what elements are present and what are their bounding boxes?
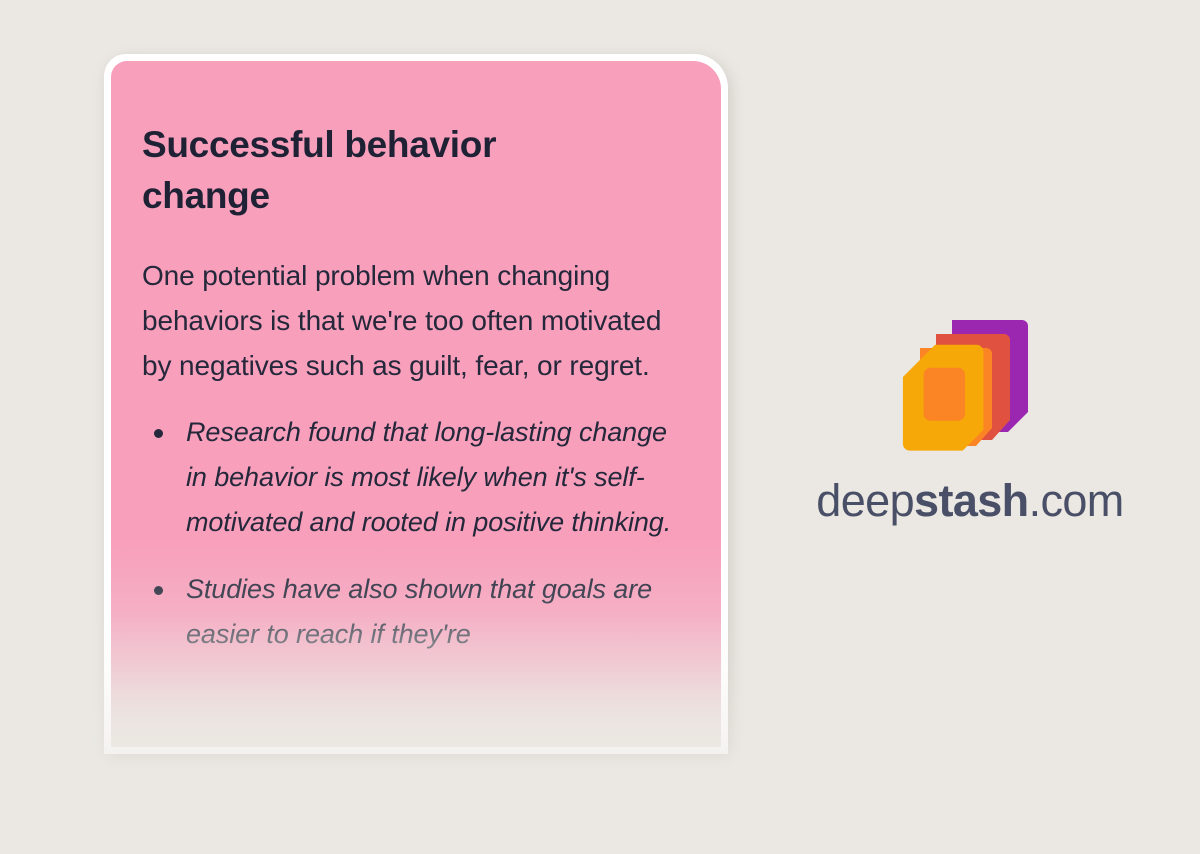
- wordmark-emphasis: stash: [914, 475, 1029, 526]
- card-bullet-list: Research found that long-lasting change …: [142, 388, 693, 657]
- deepstash-logo-icon: [896, 300, 1044, 452]
- card-surface[interactable]: Successful behavior change One potential…: [111, 61, 721, 747]
- list-item: Research found that long-lasting change …: [142, 410, 693, 545]
- stash-card[interactable]: Successful behavior change One potential…: [104, 54, 728, 754]
- screenshot-stage: Successful behavior change One potential…: [0, 0, 1200, 800]
- wordmark-prefix: deep: [816, 475, 914, 526]
- list-item: Studies have also shown that goals are e…: [142, 567, 693, 657]
- card-content: Successful behavior change One potential…: [111, 61, 721, 679]
- card-body-text: One potential problem when changing beha…: [142, 221, 693, 388]
- brand-block: deepstash.com: [800, 300, 1140, 526]
- brand-wordmark: deepstash.com: [800, 452, 1140, 526]
- wordmark-tld: .com: [1029, 475, 1124, 526]
- card-title: Successful behavior change: [142, 61, 572, 221]
